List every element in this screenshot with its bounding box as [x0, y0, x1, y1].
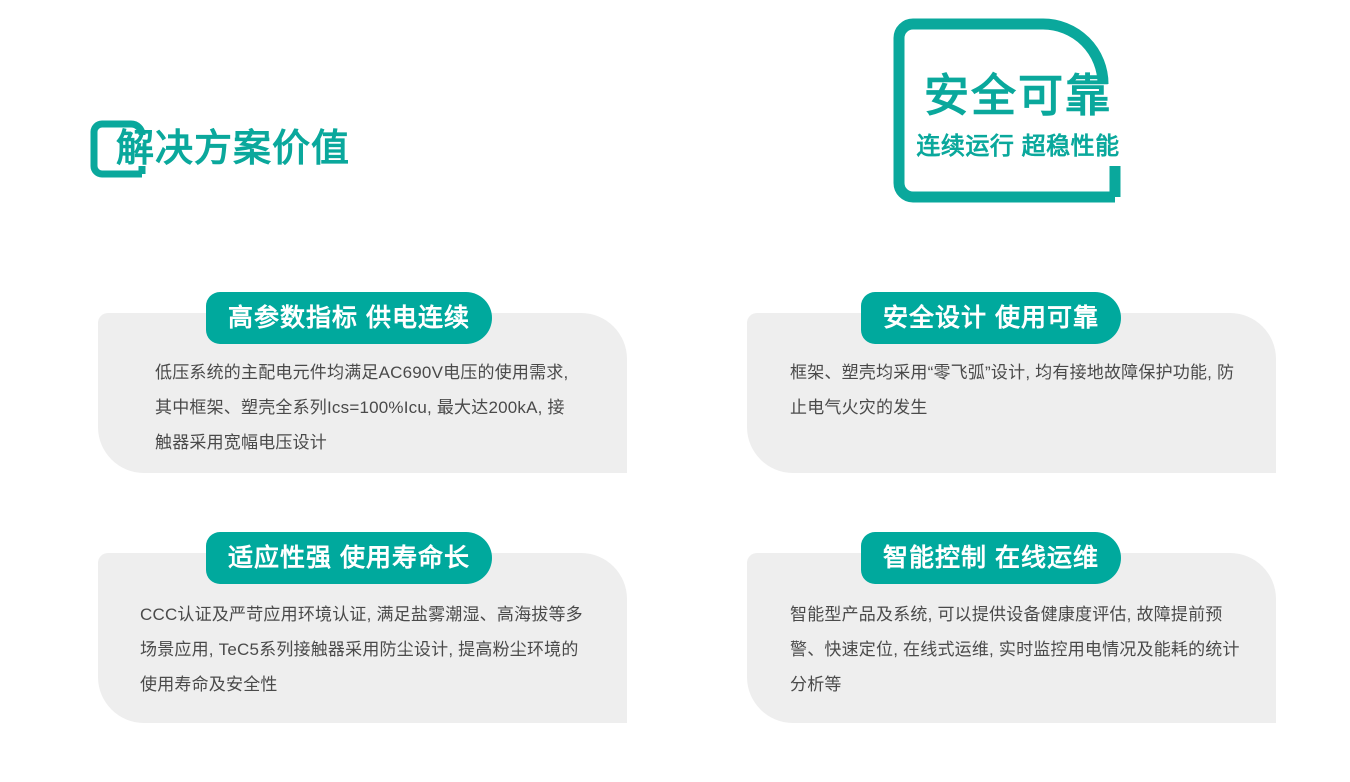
card-title-label: 智能控制 在线运维 — [883, 532, 1099, 584]
card-title-label: 安全设计 使用可靠 — [883, 292, 1099, 344]
card-body-text: 框架、塑壳均采用“零飞弧”设计, 均有接地故障保护功能, 防止电气火灾的发生 — [790, 355, 1240, 425]
page-title: 解决方案价值 — [116, 126, 350, 172]
brand-subtitle: 连续运行 超稳性能 — [893, 132, 1143, 162]
card-title-label: 适应性强 使用寿命长 — [228, 532, 470, 584]
brand-badge: 安全可靠 连续运行 超稳性能 — [893, 18, 1143, 203]
brand-title: 安全可靠 — [893, 70, 1143, 122]
card-title-pill-safe-design: 安全设计 使用可靠 — [861, 292, 1121, 344]
card-title-pill-high-parameters: 高参数指标 供电连续 — [206, 292, 492, 344]
card-title-pill-smart-control: 智能控制 在线运维 — [861, 532, 1121, 584]
card-body-text: CCC认证及严苛应用环境认证, 满足盐雾潮湿、高海拔等多场景应用, TeC5系列… — [140, 597, 585, 702]
section-heading: 解决方案价值 — [90, 112, 510, 192]
card-title-pill-adaptability: 适应性强 使用寿命长 — [206, 532, 492, 584]
card-body-text: 智能型产品及系统, 可以提供设备健康度评估, 故障提前预警、快速定位, 在线式运… — [790, 597, 1240, 702]
card-body-text: 低压系统的主配电元件均满足AC690V电压的使用需求, 其中框架、塑壳全系列Ic… — [155, 355, 575, 460]
card-title-label: 高参数指标 供电连续 — [228, 292, 470, 344]
